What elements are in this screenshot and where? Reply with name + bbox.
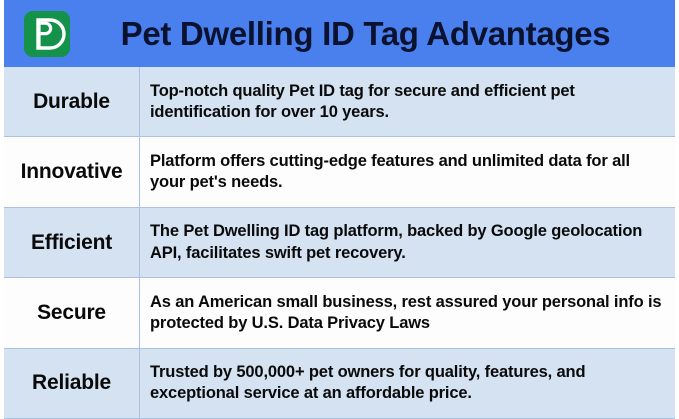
advantage-description: Top-notch quality Pet ID tag for secure … (140, 67, 675, 136)
advantage-description: Platform offers cutting-edge features an… (140, 137, 675, 206)
table-row: Reliable Trusted by 500,000+ pet owners … (4, 349, 675, 419)
table-row: Secure As an American small business, re… (4, 278, 675, 348)
pd-monogram-logo-icon (24, 11, 70, 57)
advantage-description: Trusted by 500,000+ pet owners for quali… (140, 349, 675, 418)
advantage-label: Reliable (4, 349, 140, 418)
advantage-label: Secure (4, 278, 140, 347)
header-bar: Pet Dwelling ID Tag Advantages (4, 0, 675, 67)
page-title: Pet Dwelling ID Tag Advantages (70, 17, 675, 50)
advantage-label: Efficient (4, 208, 140, 277)
table-row: Durable Top-notch quality Pet ID tag for… (4, 67, 675, 137)
advantages-table: Durable Top-notch quality Pet ID tag for… (4, 67, 675, 419)
table-row: Innovative Platform offers cutting-edge … (4, 137, 675, 207)
advantage-label: Innovative (4, 137, 140, 206)
table-row: Efficient The Pet Dwelling ID tag platfo… (4, 208, 675, 278)
advantage-description: As an American small business, rest assu… (140, 278, 675, 347)
advantage-description: The Pet Dwelling ID tag platform, backed… (140, 208, 675, 277)
pet-dwelling-advantages-infographic: Pet Dwelling ID Tag Advantages Durable T… (0, 0, 679, 419)
advantage-label: Durable (4, 67, 140, 136)
